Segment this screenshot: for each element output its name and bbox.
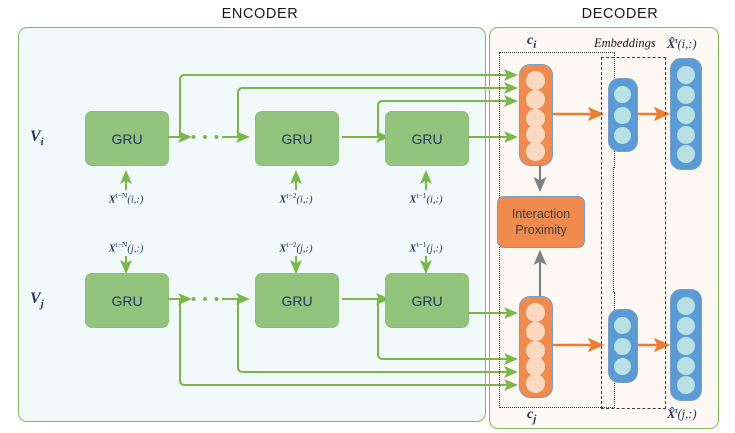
context-group-box-i (499, 52, 615, 168)
embedding-vector-i[interactable] (608, 78, 638, 152)
decoder-title: DECODER (540, 6, 700, 22)
context-label-ci: ci (527, 33, 536, 51)
context-vector-cj[interactable] (519, 296, 553, 398)
gru-i-1[interactable]: GRU (85, 111, 169, 166)
embedding-unit (614, 107, 631, 124)
ellipsis-j: • • • (191, 291, 220, 308)
gru-j-3[interactable]: GRU (385, 273, 469, 328)
output-unit (677, 145, 695, 163)
embeddings-caption: Embeddings (594, 36, 656, 51)
input-label-i-1: Xt−N(i,:) (76, 191, 176, 206)
embedding-unit (614, 338, 631, 355)
embedding-unit (614, 127, 631, 144)
output-unit (677, 357, 695, 375)
embedding-vector-j[interactable] (608, 309, 638, 383)
output-unit (677, 376, 695, 394)
input-label-i-2: Xt−2(i,:) (246, 191, 346, 206)
output-unit (677, 317, 695, 335)
context-unit (526, 322, 545, 341)
interaction-proximity-box[interactable]: Interaction Proximity (497, 196, 585, 248)
context-vector-ci[interactable] (519, 64, 553, 166)
context-unit (526, 142, 545, 161)
output-unit (677, 297, 695, 315)
output-unit (677, 337, 695, 355)
interaction-proximity-line1: Interaction (512, 206, 570, 222)
output-label-j: X̂t(j,:) (667, 406, 697, 422)
diagram-canvas: ENCODER DECODER (0, 0, 735, 433)
node-label-vj: Vj (30, 290, 44, 310)
interaction-proximity-line2: Proximity (515, 222, 566, 238)
ellipsis-i: • • • (191, 129, 220, 146)
context-unit (526, 71, 545, 90)
output-unit (677, 126, 695, 144)
embedding-unit (614, 86, 631, 103)
output-vector-j[interactable] (670, 289, 702, 401)
output-unit (677, 66, 695, 84)
gru-j-2[interactable]: GRU (255, 273, 339, 328)
node-label-vi: Vi (30, 128, 44, 148)
embedding-unit (614, 317, 631, 334)
context-group-box-j (499, 292, 615, 408)
input-label-i-3: Xt−1(i,:) (376, 191, 476, 206)
context-unit (526, 374, 545, 393)
encoder-panel (18, 27, 486, 422)
gru-i-2[interactable]: GRU (255, 111, 339, 166)
input-label-j-2: Xt−2(j,:) (246, 240, 346, 255)
context-unit (526, 303, 545, 322)
context-label-cj: cj (527, 407, 536, 425)
gru-i-3[interactable]: GRU (385, 111, 469, 166)
output-unit (677, 106, 695, 124)
gru-j-1[interactable]: GRU (85, 273, 169, 328)
context-unit (526, 90, 545, 109)
encoder-title: ENCODER (150, 6, 370, 22)
input-label-j-3: Xt−1(j,:) (376, 240, 476, 255)
output-unit (677, 86, 695, 104)
embedding-unit (614, 358, 631, 375)
output-vector-i[interactable] (670, 58, 702, 170)
output-label-i: X̂t(i,:) (667, 36, 697, 52)
input-label-j-1: Xt−N(j,:) (76, 240, 176, 255)
